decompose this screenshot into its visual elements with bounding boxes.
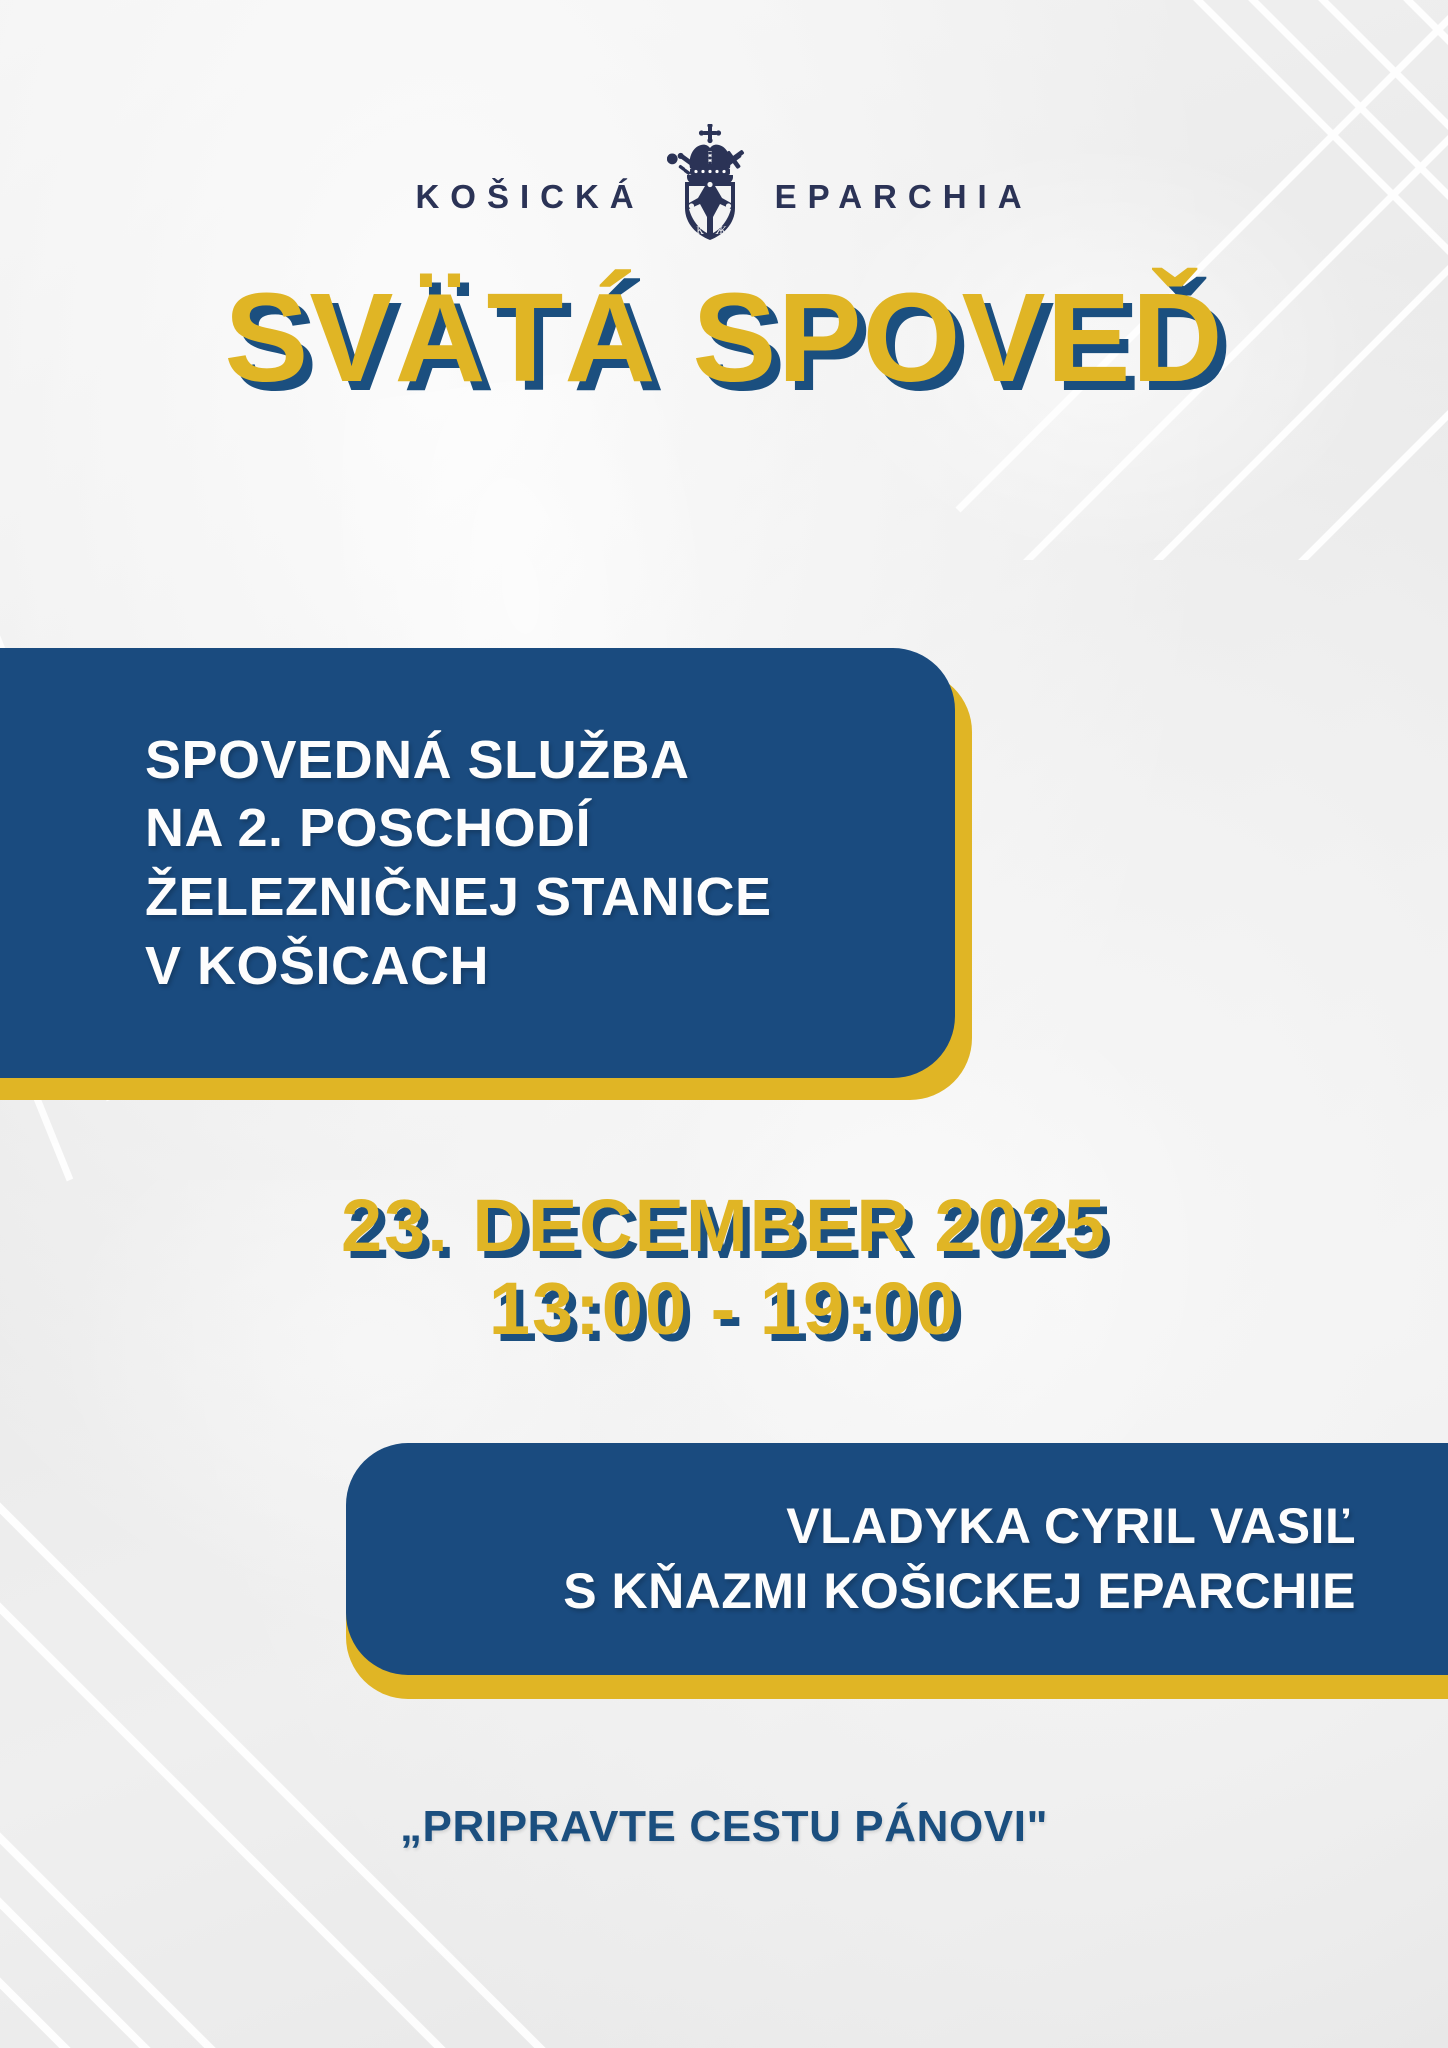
event-time: 13:00 - 19:00 xyxy=(0,1268,1448,1351)
info-line-4: V KOŠICACH xyxy=(145,932,772,1001)
info-box-panel: SPOVEDNÁ SLUŽBA NA 2. POSCHODÍ ŽELEZNIČN… xyxy=(0,648,955,1078)
presider-line-2: S KŇAZMI KOŠICKEJ EPARCHIE xyxy=(563,1559,1356,1624)
eparchy-name-left: KOŠICKÁ xyxy=(415,180,644,213)
date-time-block: 23. DECEMBER 2025 13:00 - 19:00 xyxy=(0,1185,1448,1351)
event-date: 23. DECEMBER 2025 xyxy=(0,1185,1448,1268)
info-line-2: NA 2. POSCHODÍ xyxy=(145,794,772,863)
closing-quote: „PRIPRAVTE CESTU PÁNOVI" xyxy=(0,1802,1448,1852)
presider-box-panel: VLADYKA CYRIL VASIĽ S KŇAZMI KOŠICKEJ EP… xyxy=(346,1443,1448,1675)
header-branding: KOŠICKÁ xyxy=(0,150,1448,242)
presider-box: VLADYKA CYRIL VASIĽ S KŇAZMI KOŠICKEJ EP… xyxy=(338,1443,1448,1691)
poster-title: SVÄTÁ SPOVEĎ xyxy=(0,272,1448,404)
poster-canvas: KOŠICKÁ xyxy=(0,0,1448,2048)
info-box-text: SPOVEDNÁ SLUŽBA NA 2. POSCHODÍ ŽELEZNIČN… xyxy=(0,726,772,1000)
info-line-1: SPOVEDNÁ SLUŽBA xyxy=(145,726,772,795)
eparchy-name-right: EPARCHIA xyxy=(775,180,1033,213)
info-line-3: ŽELEZNIČNEJ STANICE xyxy=(145,863,772,932)
info-box: SPOVEDNÁ SLUŽBA NA 2. POSCHODÍ ŽELEZNIČN… xyxy=(0,648,980,1096)
presider-line-1: VLADYKA CYRIL VASIĽ xyxy=(563,1494,1356,1559)
kosice-eparchy-coat-of-arms-icon: К Ж xyxy=(667,124,753,242)
crest-letter-right: Ж xyxy=(715,226,727,237)
crest-letter-left: К xyxy=(696,226,704,237)
presider-box-text: VLADYKA CYRIL VASIĽ S KŇAZMI KOŠICKEJ EP… xyxy=(563,1494,1448,1624)
